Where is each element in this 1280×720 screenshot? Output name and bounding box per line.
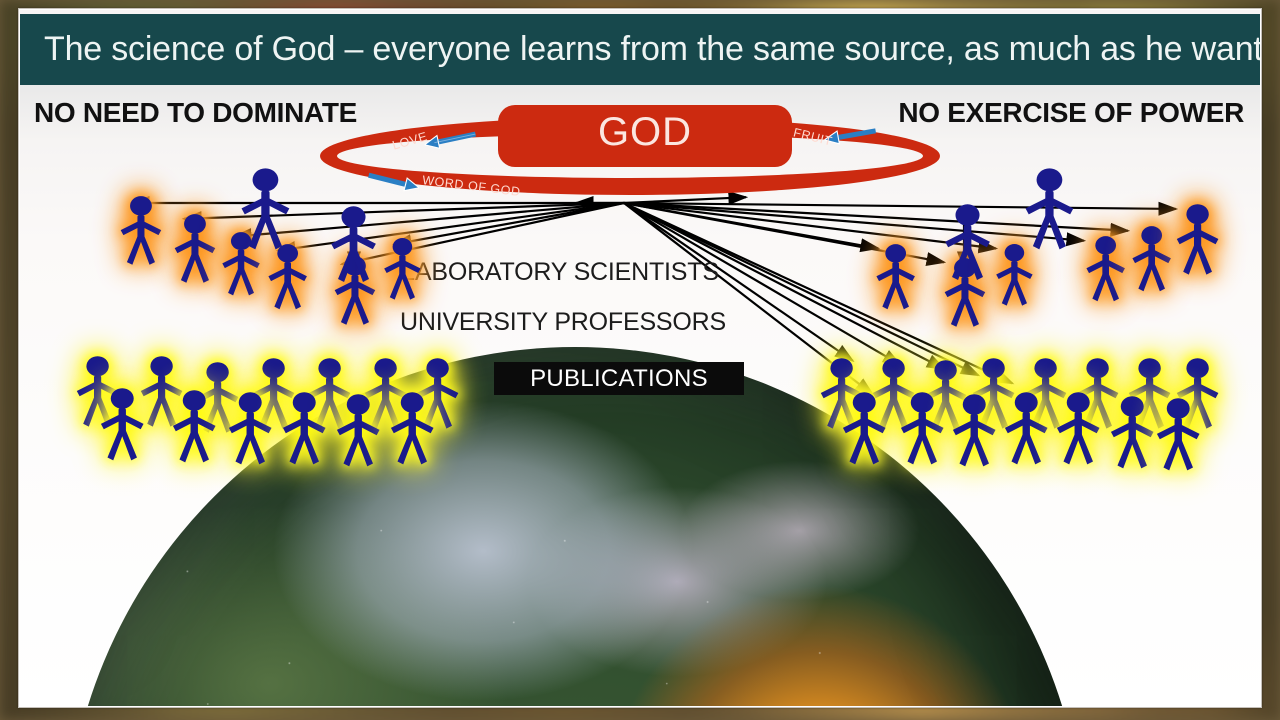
god-source-group: LOVE FRUIT WORD OF GOD GOD bbox=[320, 105, 960, 210]
stick-figure-plain bbox=[236, 167, 295, 252]
slide-title: The science of God – everyone learns fro… bbox=[44, 30, 1244, 69]
stick-figure-scientist bbox=[1128, 225, 1175, 293]
slide-body: NO NEED TO DOMINATE NO EXERCISE OF POWER… bbox=[20, 85, 1260, 706]
god-label: GOD bbox=[498, 110, 792, 155]
stick-figure-plain bbox=[1020, 167, 1079, 252]
stick-figure-crowd-member bbox=[386, 391, 438, 466]
slide-content-area: The science of God – everyone learns fro… bbox=[20, 10, 1260, 706]
slogan-no-need-to-dominate: NO NEED TO DOMINATE bbox=[34, 97, 357, 129]
stick-figure-plain bbox=[326, 205, 381, 284]
stick-figure-scientist bbox=[992, 243, 1037, 307]
stick-figure-scientist bbox=[1172, 203, 1223, 277]
stick-figure-crowd-member bbox=[168, 389, 220, 464]
presentation-slide: The science of God – everyone learns fro… bbox=[18, 8, 1262, 708]
stick-figure-plain bbox=[940, 203, 995, 282]
stick-figure-scientist bbox=[116, 195, 166, 267]
stick-figure-crowd-member bbox=[1000, 391, 1052, 466]
stick-figure-crowd-member bbox=[838, 391, 890, 466]
stick-figure-crowd-member bbox=[96, 387, 148, 462]
god-box: GOD bbox=[498, 105, 792, 167]
publications-label: PUBLICATIONS bbox=[494, 365, 744, 393]
slide-title-bar: The science of God – everyone learns fro… bbox=[20, 14, 1260, 85]
stick-figure-crowd-member bbox=[224, 391, 276, 466]
stick-figure-crowd-member bbox=[278, 391, 330, 466]
stick-figure-scientist bbox=[1082, 235, 1129, 303]
stick-figure-scientist bbox=[264, 243, 311, 311]
stick-figure-scientist bbox=[380, 237, 425, 301]
caption-laboratory-scientists: LABORATORY SCIENTISTS bbox=[400, 258, 720, 287]
stick-figure-crowd-member bbox=[332, 393, 384, 468]
slide-stage: The science of God – everyone learns fro… bbox=[0, 0, 1280, 720]
stick-figure-crowd-member bbox=[1106, 395, 1158, 470]
stick-figure-crowd-member bbox=[1052, 391, 1104, 466]
stick-figure-scientist bbox=[872, 243, 919, 311]
stick-figure-crowd-member bbox=[1152, 397, 1204, 472]
stick-figure-crowd-member bbox=[896, 391, 948, 466]
stick-figure-scientist bbox=[170, 213, 220, 285]
caption-university-professors: UNIVERSITY PROFESSORS bbox=[400, 308, 720, 337]
stick-figure-crowd-member bbox=[948, 393, 1000, 468]
publications-banner: PUBLICATIONS bbox=[494, 362, 744, 395]
